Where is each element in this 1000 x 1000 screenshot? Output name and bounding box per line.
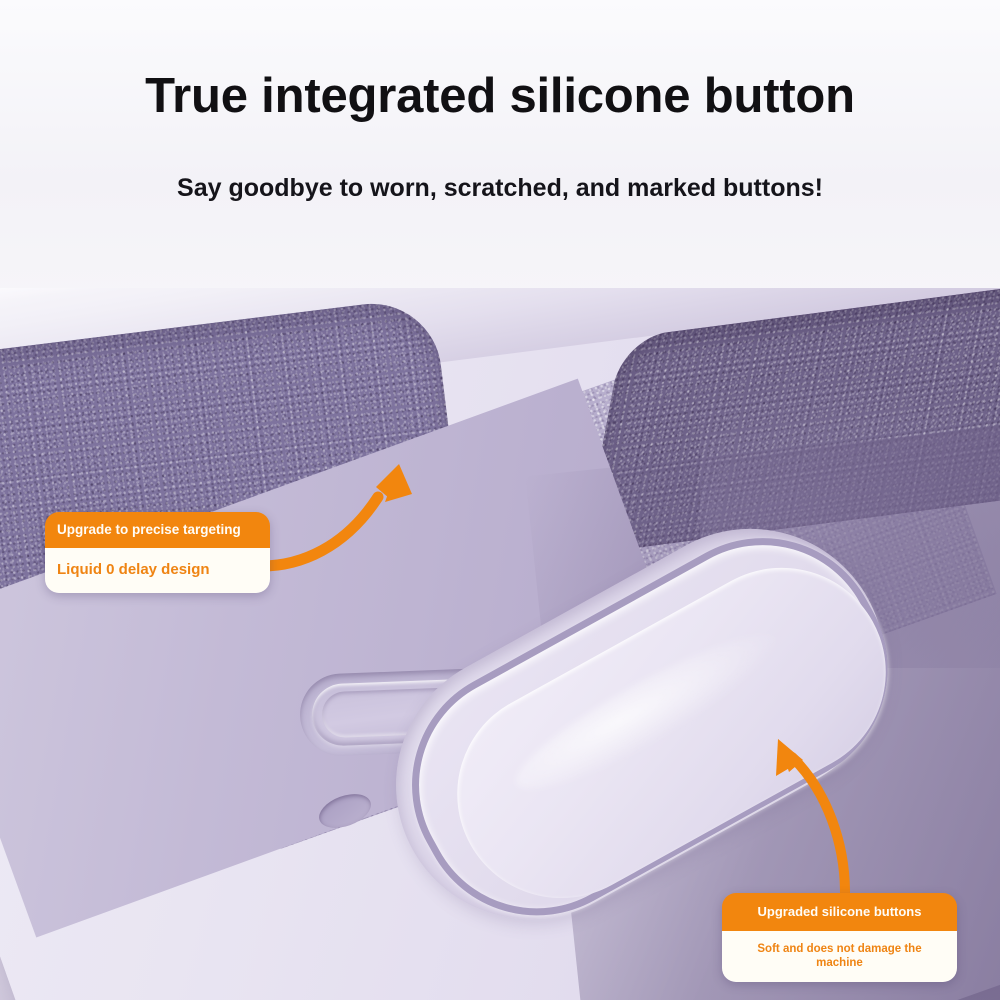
callout-header: Upgraded silicone buttons — [722, 893, 957, 931]
page-subtitle: Say goodbye to worn, scratched, and mark… — [0, 174, 1000, 203]
callout-header: Upgrade to precise targeting — [45, 512, 270, 548]
callout-precise-targeting[interactable]: Upgrade to precise targeting Liquid 0 de… — [45, 512, 270, 593]
callout-body: Soft and does not damage the machine — [722, 931, 957, 982]
callout-body: Liquid 0 delay design — [45, 548, 270, 593]
callout-upgraded-buttons[interactable]: Upgraded silicone buttons Soft and does … — [722, 893, 957, 982]
header-band: True integrated silicone button Say good… — [0, 0, 1000, 300]
page-title: True integrated silicone button — [0, 68, 1000, 124]
button-highlight — [502, 613, 793, 811]
product-feature-image: True integrated silicone button Say good… — [0, 0, 1000, 1000]
